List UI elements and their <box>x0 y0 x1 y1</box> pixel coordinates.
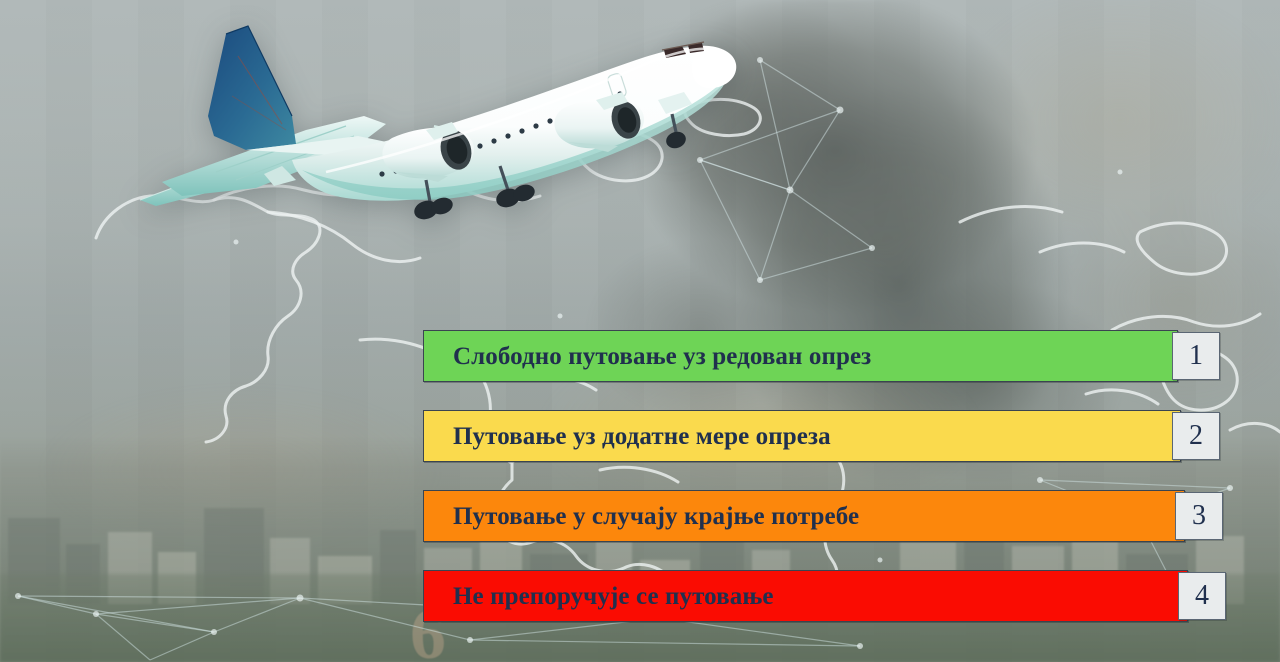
advisory-level-row[interactable]: Путовање уз додатне мере опреза 2 <box>423 410 1223 462</box>
level-label-1: Слободно путовање уз редован опрез <box>424 344 871 369</box>
advisory-level-row[interactable]: Путовање у случају крајње потребе 3 <box>423 490 1223 542</box>
airplane-image <box>96 4 756 236</box>
level-bar-3[interactable]: Путовање у случају крајње потребе <box>423 490 1185 542</box>
slide-canvas: 6 <box>0 0 1280 662</box>
level-label-3: Путовање у случају крајње потребе <box>424 504 859 529</box>
level-number-badge-2: 2 <box>1172 412 1220 460</box>
level-bar-1[interactable]: Слободно путовање уз редован опрез <box>423 330 1178 382</box>
level-label-4: Не препоручује се путовање <box>424 584 774 609</box>
level-bar-4[interactable]: Не препоручује се путовање <box>423 570 1188 622</box>
level-number-badge-4: 4 <box>1178 572 1226 620</box>
level-number-badge-1: 1 <box>1172 332 1220 380</box>
advisory-level-row[interactable]: Слободно путовање уз редован опрез 1 <box>423 330 1223 382</box>
level-number-badge-3: 3 <box>1175 492 1223 540</box>
advisory-level-list: Слободно путовање уз редован опрез 1 Пут… <box>423 330 1223 622</box>
level-bar-2[interactable]: Путовање уз додатне мере опреза <box>423 410 1181 462</box>
level-label-2: Путовање уз додатне мере опреза <box>424 424 831 449</box>
advisory-level-row[interactable]: Не препоручује се путовање 4 <box>423 570 1223 622</box>
